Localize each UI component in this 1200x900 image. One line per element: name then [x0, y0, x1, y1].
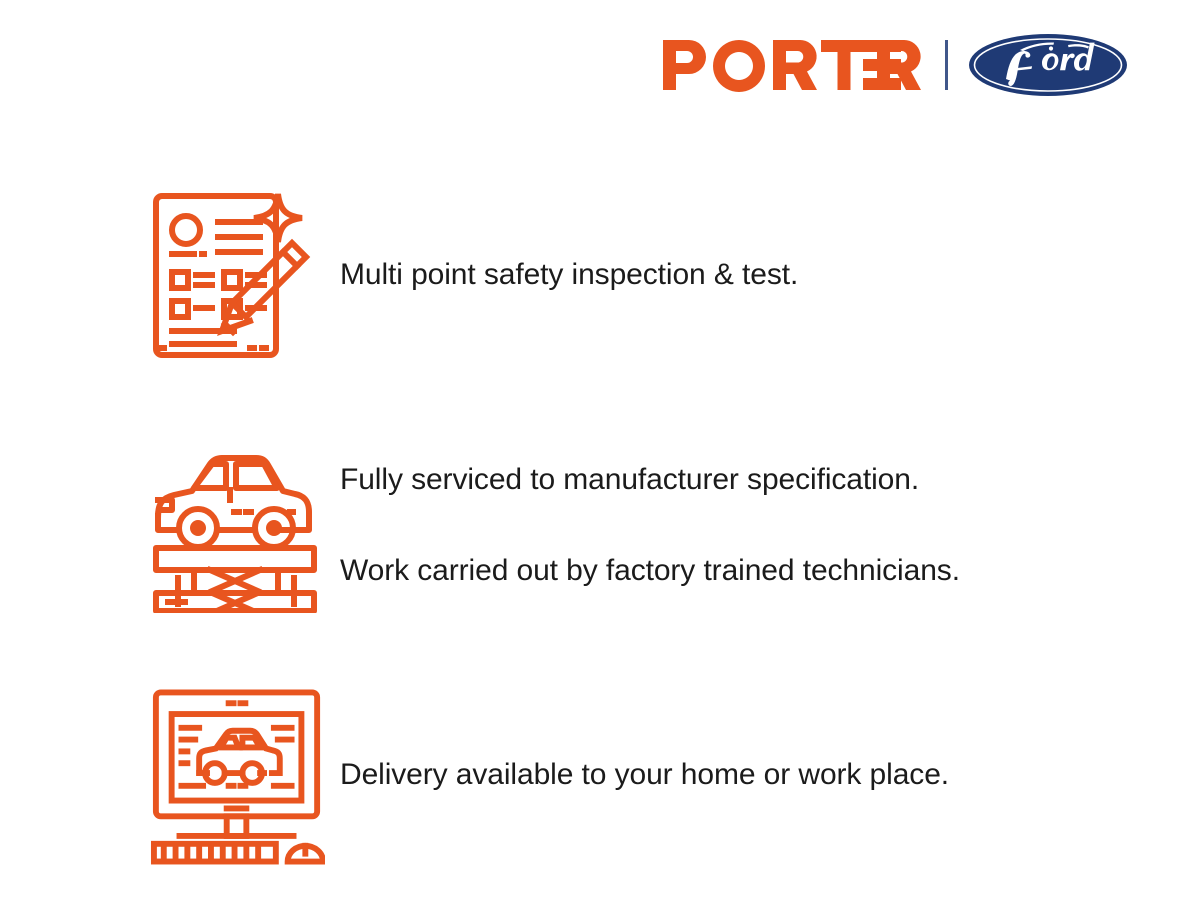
feature-icon-3 [150, 685, 325, 865]
porter-logo[interactable] [663, 38, 925, 92]
feature-line: Delivery available to your home or work … [340, 752, 1150, 798]
ford-logo[interactable] [968, 33, 1128, 97]
feature-text-3: Delivery available to your home or work … [325, 707, 1150, 844]
feature-row: Multi point safety inspection & test. [150, 150, 1150, 400]
feature-icon-1 [150, 185, 325, 365]
feature-row: Delivery available to your home or work … [150, 650, 1150, 900]
feature-line: Multi point safety inspection & test. [340, 252, 1150, 298]
brand-divider [945, 40, 948, 90]
computer-monitor-car-delivery-icon [150, 685, 325, 865]
feature-list: Multi point safety inspection & test. [150, 150, 1150, 900]
car-on-scissor-lift-icon [150, 438, 322, 613]
brand-lockup [663, 34, 1128, 96]
feature-text-1: Multi point safety inspection & test. [325, 207, 1150, 344]
feature-row: Fully serviced to manufacturer specifica… [150, 400, 1150, 650]
feature-line: Work carried out by factory trained tech… [340, 548, 1150, 594]
feature-text-2: Fully serviced to manufacturer specifica… [325, 411, 1150, 639]
feature-icon-2 [150, 435, 325, 615]
feature-line: Fully serviced to manufacturer specifica… [340, 457, 1150, 503]
checklist-clipboard-pencil-icon [150, 188, 320, 363]
